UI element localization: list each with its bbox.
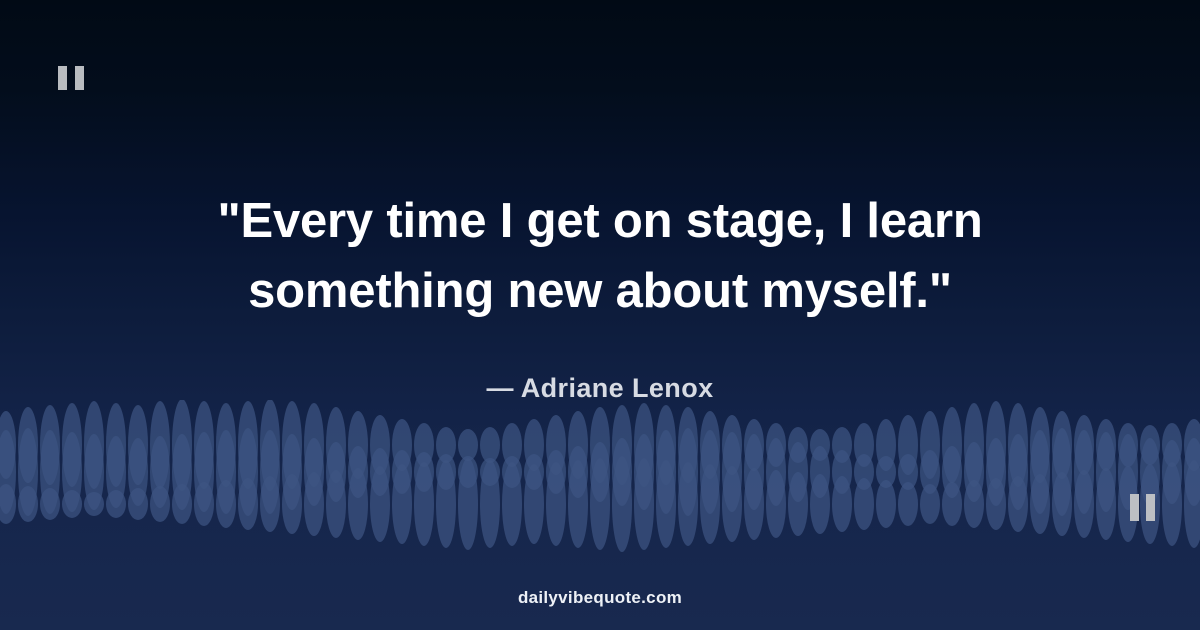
close-quote-icon <box>1130 494 1155 521</box>
quote-card: "Every time I get on stage, I learn some… <box>0 0 1200 630</box>
card-content: "Every time I get on stage, I learn some… <box>0 0 1200 630</box>
quote-text: "Every time I get on stage, I learn some… <box>120 186 1080 326</box>
site-url: dailyvibequote.com <box>518 588 682 607</box>
quote-attribution: — Adriane Lenox <box>486 373 713 404</box>
close-quote-bar-right <box>1146 494 1155 521</box>
card-footer: dailyvibequote.com <box>0 588 1200 608</box>
close-quote-bar-left <box>1130 494 1139 521</box>
